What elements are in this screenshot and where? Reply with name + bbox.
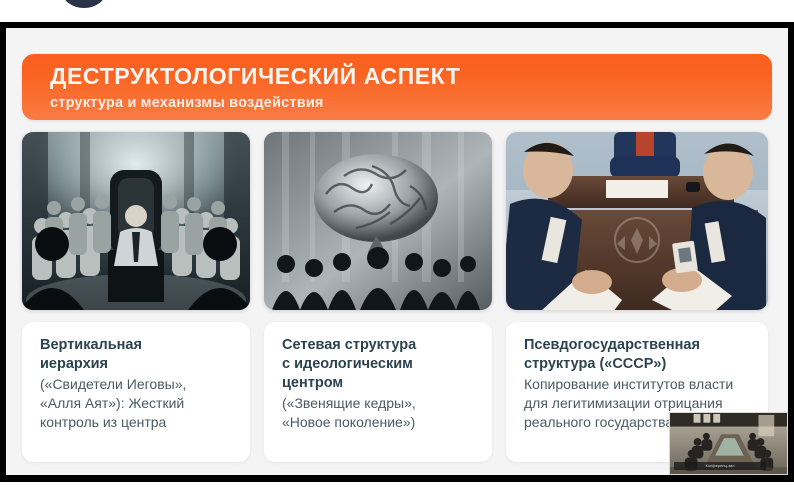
card-vertical-hierarchy: Вертикальная иерархия («Свидетели Иеговы…: [22, 322, 250, 462]
throne-hierarchy-photo: [22, 132, 250, 310]
column-network-structure: Сетевая структура с идеологическим центр…: [264, 132, 492, 462]
card-title: Псевдогосударственная структура («СССР»): [524, 336, 754, 374]
conference-room-video-thumbnail[interactable]: Конференц-зал: [669, 412, 788, 475]
pip-caption: Конференц-зал: [674, 462, 766, 470]
card-title: Вертикальная иерархия: [40, 336, 236, 374]
video-frame-right-edge: [788, 28, 794, 475]
officials-desk-photo: [506, 132, 768, 310]
card-network-structure: Сетевая структура с идеологическим центр…: [264, 322, 492, 462]
app-logo-icon: [62, 0, 106, 8]
brain-crowd-photo: [264, 132, 492, 310]
slide-title: ДЕСТРУКТОЛОГИЧЕСКИЙ АСПЕКТ: [50, 64, 772, 89]
column-vertical-hierarchy: Вертикальная иерархия («Свидетели Иеговы…: [22, 132, 250, 462]
page-bottom-area: [0, 482, 794, 500]
presentation-slide: ДЕСТРУКТОЛОГИЧЕСКИЙ АСПЕКТ структура и м…: [6, 28, 788, 475]
slide-subtitle: структура и механизмы воздействия: [50, 95, 772, 111]
card-body: («Звенящие кедры», «Новое поколение»): [282, 394, 478, 432]
video-frame-bottom-bar: [0, 475, 794, 482]
content-columns: Вертикальная иерархия («Свидетели Иеговы…: [22, 132, 772, 462]
top-strip: [0, 0, 794, 22]
slide-header-banner: ДЕСТРУКТОЛОГИЧЕСКИЙ АСПЕКТ структура и м…: [22, 54, 772, 120]
card-body: («Свидетели Иеговы», «Алля Аят»): Жестки…: [40, 375, 236, 432]
screen: ДЕСТРУКТОЛОГИЧЕСКИЙ АСПЕКТ структура и м…: [0, 0, 794, 500]
card-title: Сетевая структура с идеологическим центр…: [282, 336, 478, 393]
